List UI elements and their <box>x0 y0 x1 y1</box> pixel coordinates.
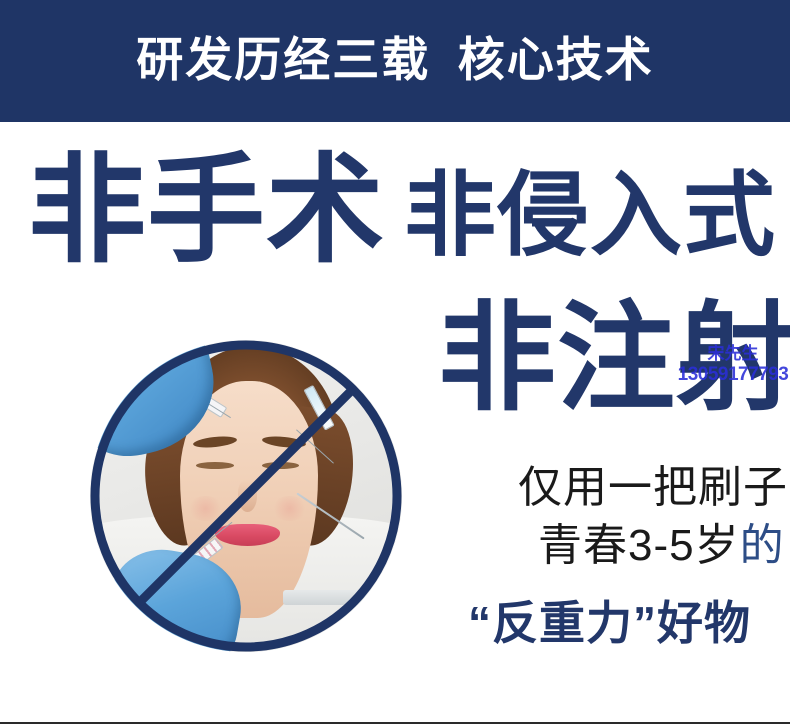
subcopy-line-two-main: 青春3-5岁 <box>538 521 740 570</box>
bottom-divider <box>0 722 790 724</box>
instrument-tray <box>283 590 389 606</box>
subcopy-line-two: 青春3-5岁的 <box>538 524 785 568</box>
headline-non-injection: 非注射 <box>438 300 790 418</box>
poster-root: 研发历经三载 核心技术 非手术 非侵入式 非注射 宋先生 13059177793… <box>0 0 790 726</box>
model-eye-right <box>262 462 299 469</box>
headline-non-surgical: 非手术 <box>28 152 385 270</box>
subcopy-line-two-accent: 的 <box>740 521 785 570</box>
model-eye-left <box>196 462 233 469</box>
photo-circle-mask <box>90 340 402 652</box>
prohibited-injection-photo <box>90 340 402 652</box>
headline-non-invasive: 非侵入式 <box>404 170 776 262</box>
header-title: 研发历经三载 核心技术 <box>136 38 654 85</box>
model-cheek-right <box>271 496 308 521</box>
subcopy-line-three: “反重力”好物 <box>468 600 751 646</box>
injection-scene <box>90 340 402 652</box>
model-cheek-left <box>187 496 224 521</box>
subcopy-line-one: 仅用一把刷子 <box>518 466 788 510</box>
model-nose <box>238 480 257 511</box>
header-banner: 研发历经三载 核心技术 <box>0 0 790 122</box>
